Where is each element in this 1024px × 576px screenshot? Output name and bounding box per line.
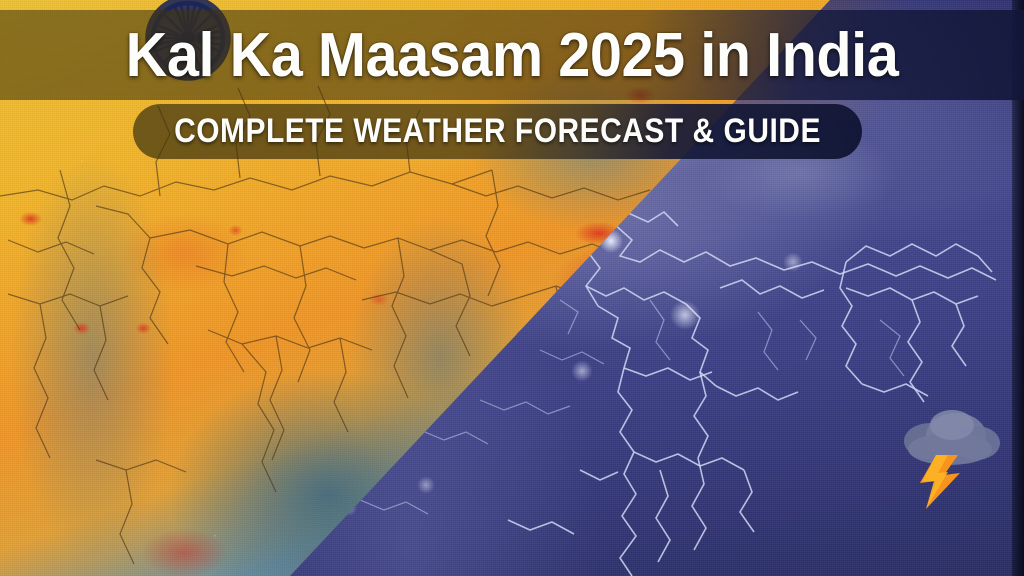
weather-banner-graphic: Kal Ka Maasam 2025 in India COMPLETE WEA…: [0, 0, 1024, 576]
page-title: Kal Ka Maasam 2025 in India: [36, 13, 988, 97]
thunderstorm-icon: [890, 385, 1010, 510]
page-subtitle: COMPLETE WEATHER FORECAST & GUIDE: [177, 104, 819, 159]
